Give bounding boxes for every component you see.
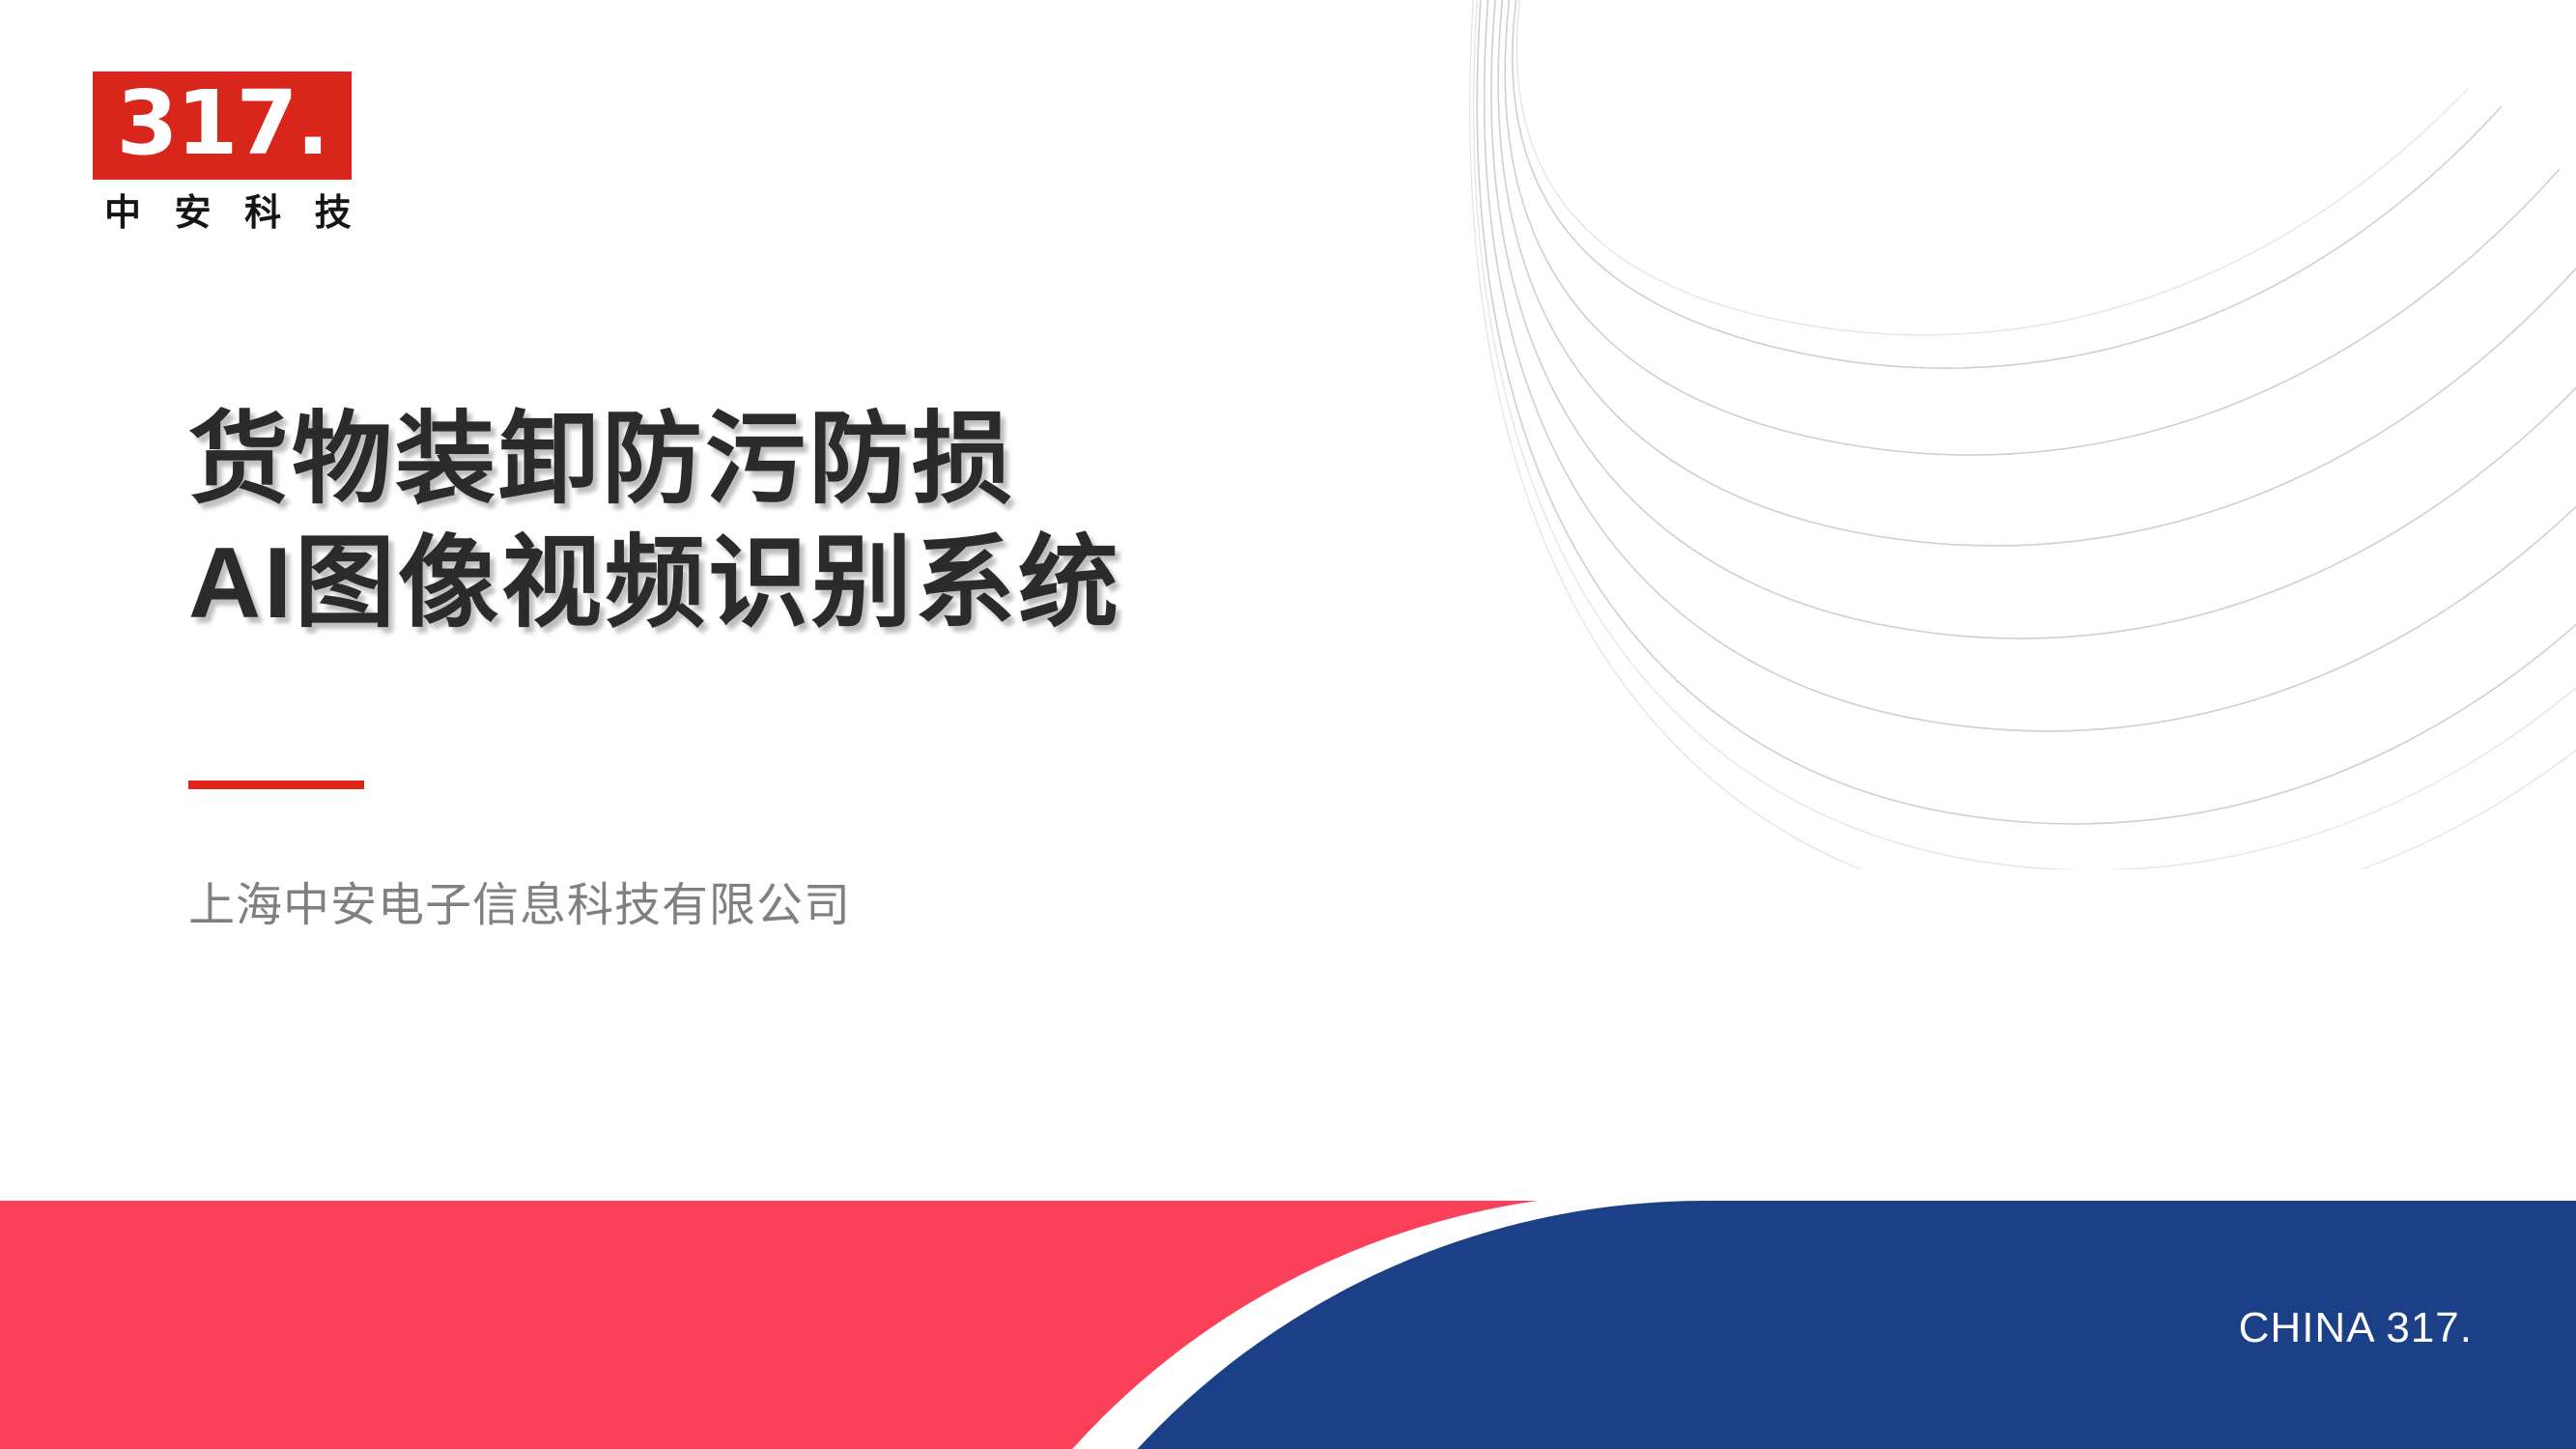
bottom-banner: CHINA 317. <box>0 1201 2576 1449</box>
swoosh-line-art-icon <box>1333 0 2576 869</box>
logo-mark-text: 317. <box>117 79 328 168</box>
subtitle-company-name: 上海中安电子信息科技有限公司 <box>188 877 851 935</box>
page-title: 货物装卸防污防损 AI图像视频识别系统 <box>188 398 1444 645</box>
title-divider <box>188 781 364 789</box>
title-line-2: AI图像视频识别系统 <box>188 522 1444 645</box>
banner-brand-label: CHINA 317. <box>2239 1305 2473 1351</box>
logo-mark: 317. <box>93 71 352 180</box>
title-line-1: 货物装卸防污防损 <box>188 398 1444 522</box>
logo-company-short: 中 安 科 技 <box>93 193 352 234</box>
company-logo: 317. 中 安 科 技 <box>93 71 352 234</box>
title-slide: 317. 中 安 科 技 货物装卸防污防损 AI图像视频识别系统 上海中安电子信… <box>0 0 2576 1449</box>
